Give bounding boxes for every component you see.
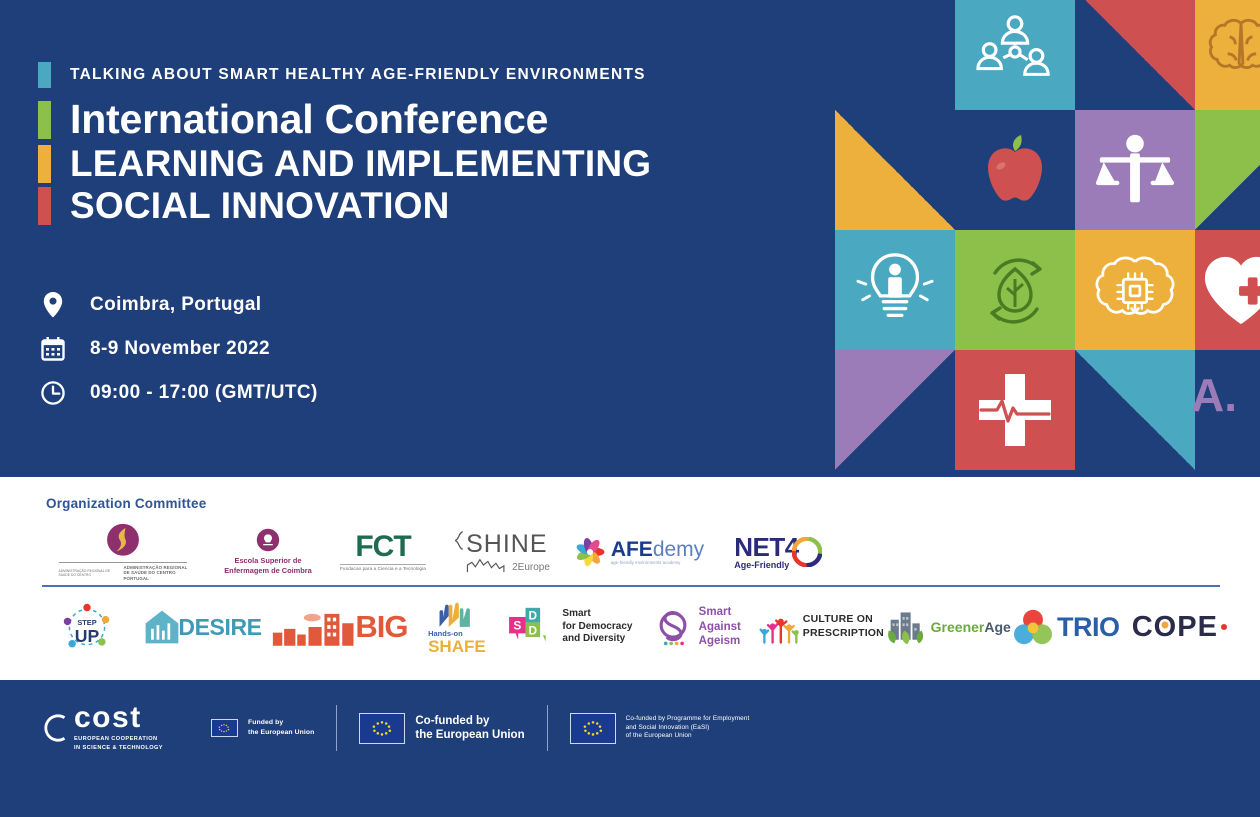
cofunded-easi-text: Co-funded by Programme for Employment an…: [626, 715, 750, 742]
escola-label: Escola Superior de Enfermagem de Coimbra: [224, 556, 311, 575]
svg-text:UP: UP: [75, 626, 100, 646]
trio-label: TRIO: [1057, 612, 1120, 643]
svg-text:D: D: [529, 623, 538, 637]
escola-superior-enfermagem-coimbra-logo[interactable]: Escola Superior de Enfermagem de Coimbra: [208, 523, 328, 581]
cope-logo[interactable]: COPE: [1122, 599, 1228, 655]
mosaic-triangle-amber: [835, 110, 955, 230]
step-up-logo[interactable]: STEP UP: [38, 599, 136, 655]
footer-logos: cost EUROPEAN COOPERATION IN SCIENCE & T…: [42, 702, 749, 754]
health-institute-subtext: ADMINISTRAÇÃO REGIONAL DE SAÚDE DO CENTR…: [124, 565, 188, 582]
fct-label: FCT: [355, 532, 410, 562]
cofunded-by-eu-badge[interactable]: Co-funded by the European Union: [359, 713, 524, 744]
shine-sub: 2Europe: [512, 563, 550, 573]
funded-by-eu-badge[interactable]: Funded by the European Union: [211, 718, 314, 737]
cop-label: CULTURE ON PRESCRIPTION: [803, 613, 884, 640]
mosaic-tile-medical-cross-pulse: [955, 350, 1075, 470]
sdd-label: Smart for Democracy and Diversity: [562, 608, 632, 646]
event-time-text: 09:00 - 17:00 (GMT/UTC): [90, 382, 318, 404]
organization-section: Organization Committee ADMINISTRAÇÃO REG…: [0, 477, 1260, 680]
brain-chip-icon: [1075, 230, 1195, 350]
icon-mosaic: A.: [835, 0, 1260, 477]
conference-banner: TALKING ABOUT SMART HEALTHY AGE-FRIENDLY…: [0, 0, 1260, 817]
footer-divider-2: [547, 705, 548, 751]
mosaic-tile-brain-chip: [1075, 230, 1195, 350]
footer-section: cost EUROPEAN COOPERATION IN SCIENCE & T…: [0, 680, 1260, 817]
title-line3: SOCIAL INNOVATION: [70, 185, 450, 227]
logo-divider: [42, 585, 1220, 587]
cofunded-by-eu-text: Co-funded by the European Union: [415, 714, 524, 743]
kicker-row: TALKING ABOUT SMART HEALTHY AGE-FRIENDLY…: [38, 62, 828, 88]
mosaic-tile-scales-person: [1075, 110, 1195, 230]
mosaic-tile-people-network: [955, 0, 1075, 110]
hero-section: TALKING ABOUT SMART HEALTHY AGE-FRIENDLY…: [0, 0, 1260, 477]
mosaic-tile-brain-outline: [1195, 0, 1260, 110]
cofunded-easi-badge[interactable]: Co-funded by Programme for Employment an…: [570, 713, 750, 744]
people-network-icon: [955, 0, 1075, 110]
big-label: BIG: [355, 609, 407, 645]
title-line1: International Conference: [70, 97, 548, 143]
cost-wordmark: cost: [74, 704, 163, 733]
cost-logo[interactable]: cost EUROPEAN COOPERATION IN SCIENCE & T…: [42, 704, 163, 752]
organization-committee-title: Organization Committee: [46, 496, 206, 511]
accent-bar-2: [38, 101, 51, 139]
eu-flag-icon: [211, 719, 238, 737]
smart-against-ageism-logo[interactable]: Smart Against Ageism: [636, 599, 756, 655]
corner-letter: A.: [1191, 368, 1237, 422]
medical-cross-pulse-icon: [955, 350, 1075, 470]
eu-flag-icon: [570, 713, 616, 744]
desire-logo[interactable]: DESIRE: [136, 599, 269, 655]
funded-by-eu-text: Funded by the European Union: [248, 718, 314, 737]
mosaic-triangle-red: [1075, 0, 1195, 110]
logo-row-1: ADMINISTRAÇÃO REGIONAL DE SAÚDE DO CENTR…: [38, 523, 1228, 581]
culture-on-prescription-logo[interactable]: CULTURE ON PRESCRIPTION: [756, 599, 885, 655]
cost-subtitle-line2: IN SCIENCE & TECHNOLOGY: [74, 744, 163, 752]
desire-label: DESIRE: [178, 614, 261, 641]
title-line1-row: International Conference: [38, 97, 828, 143]
event-date-text: 8-9 November 2022: [90, 338, 270, 360]
clock-icon: [40, 380, 66, 406]
afedemy-subtext: age-friendly environments academy: [611, 560, 681, 565]
svg-text:S: S: [514, 619, 522, 633]
mosaic-triangle-green: [1195, 110, 1260, 230]
scales-person-icon: [1075, 110, 1195, 230]
shine2europe-logo[interactable]: SHINE 2Europe: [438, 523, 563, 581]
footer-divider-1: [336, 705, 337, 751]
hands-on-shafe-logo[interactable]: Hands-on SHAFE: [410, 599, 503, 655]
event-location-row: Coimbra, Portugal: [40, 283, 318, 327]
greener-age-label: GreenerAge: [931, 619, 1011, 635]
calendar-icon: [40, 336, 66, 362]
logo-row-2: STEP UP DESIRE BIG: [38, 599, 1228, 655]
afedemy-logo[interactable]: AFEdemy age-friendly environments academ…: [563, 523, 713, 581]
event-time-row: 09:00 - 17:00 (GMT/UTC): [40, 371, 318, 415]
trio-logo[interactable]: TRIO: [1011, 599, 1122, 655]
saa-label: Smart Against Ageism: [699, 605, 741, 648]
brain-outline-icon: [1195, 0, 1260, 110]
big-logo[interactable]: BIG: [269, 599, 411, 655]
event-details: Coimbra, Portugal 8-9 November 2022: [40, 283, 318, 415]
net4age-friendly-logo[interactable]: NET4 Age-Friendly: [713, 523, 843, 581]
hero-text-block: TALKING ABOUT SMART HEALTHY AGE-FRIENDLY…: [38, 62, 828, 227]
recycle-leaf-icon: [955, 230, 1075, 350]
accent-bar-1: [38, 62, 51, 88]
mosaic-tile-heart-cross: [1195, 230, 1260, 350]
accent-bar-3: [38, 145, 51, 183]
accent-bar-4: [38, 187, 51, 225]
net4-label: NET4: [734, 534, 798, 560]
mosaic-triangle-teal: [1075, 350, 1195, 470]
greener-age-logo[interactable]: GreenerAge: [885, 599, 1011, 655]
kicker-text: TALKING ABOUT SMART HEALTHY AGE-FRIENDLY…: [70, 66, 646, 84]
mosaic-tile-recycle-leaf: [955, 230, 1075, 350]
event-date-row: 8-9 November 2022: [40, 327, 318, 371]
heart-cross-icon: [1195, 230, 1260, 350]
eu-flag-icon: [359, 713, 405, 744]
location-pin-icon: [40, 292, 66, 318]
title-line3-row: SOCIAL INNOVATION: [38, 185, 828, 227]
title-line2-row: LEARNING AND IMPLEMENTING: [38, 143, 828, 185]
cope-label: COPE: [1132, 611, 1218, 644]
afedemy-label: AFEdemy: [611, 539, 704, 560]
mosaic-triangle-purple: [835, 350, 955, 470]
mosaic-tile-lightbulb-person: [835, 230, 955, 350]
shine-label: SHINE: [466, 532, 547, 557]
shafe-label: SHAFE: [428, 638, 486, 655]
apple-icon: [955, 110, 1075, 230]
fct-logo[interactable]: FCT Fundacao para a Ciencia e a Tecnolog…: [328, 523, 438, 581]
cost-subtitle-line1: EUROPEAN COOPERATION: [74, 735, 163, 743]
svg-text:D: D: [529, 609, 538, 623]
net4-sub: Age-Friendly: [734, 560, 789, 571]
lightbulb-person-icon: [835, 230, 955, 350]
event-location-text: Coimbra, Portugal: [90, 294, 261, 316]
smart-for-democracy-and-diversity-logo[interactable]: S D D Smart for Democracy and Diversity: [503, 599, 636, 655]
title-line2: LEARNING AND IMPLEMENTING: [70, 143, 651, 185]
mosaic-tile-apple: [955, 110, 1075, 230]
fct-subtext: Fundacao para a Ciencia e a Tecnologia: [340, 564, 426, 572]
health-institute-logo[interactable]: ADMINISTRAÇÃO REGIONAL DE SAÚDE DO CENTR…: [38, 523, 208, 581]
health-institute-microtext: ADMINISTRAÇÃO REGIONAL DE SAÚDE DO CENTR…: [59, 569, 121, 577]
